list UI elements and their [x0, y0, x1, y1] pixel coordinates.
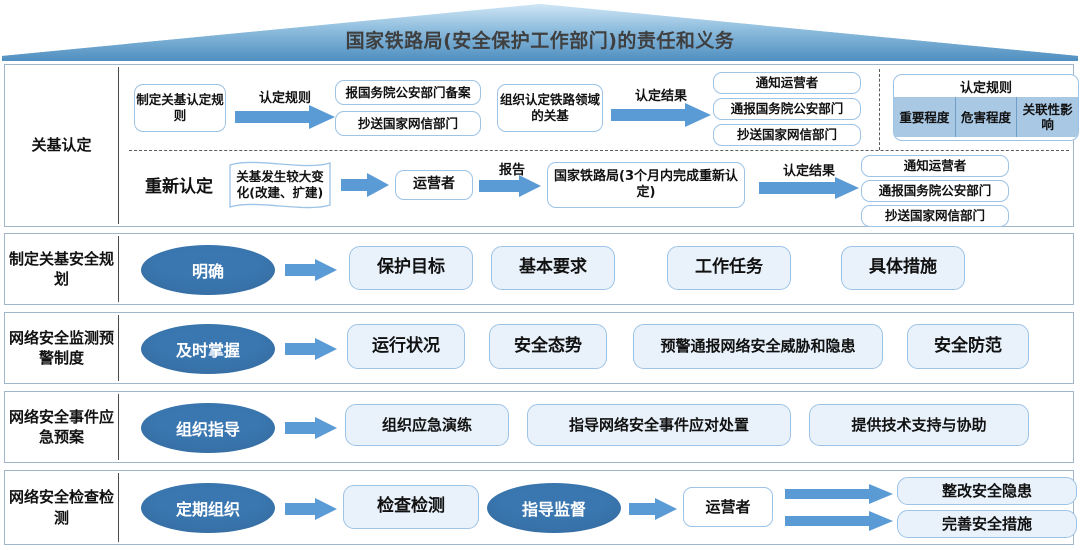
caption-identification-rules: 认定规则 — [237, 87, 333, 106]
rule-cell-harm[interactable]: 危害程度 — [955, 97, 1017, 137]
box-report-mps-2[interactable]: 通报国务院公安部门 — [861, 180, 1009, 202]
section-monitoring-warning: 网络安全监测预警制度 及时掌握 运行状况 安全态势 预警通报网络安全威胁和隐患 … — [4, 312, 1074, 384]
ellipse-clarify[interactable]: 明确 — [141, 245, 275, 295]
arrow-row5c-top — [785, 484, 893, 504]
ellipse-organize-guide[interactable]: 组织指导 — [141, 403, 275, 453]
arrow-row5a — [285, 498, 337, 520]
wave-text: 关基发生较大变化(改建、扩建) — [227, 159, 333, 211]
ellipse-guide-supervise[interactable]: 指导监督 — [487, 483, 621, 533]
box-inspection-detection[interactable]: 检查检测 — [343, 485, 479, 529]
section-body-1: 制定关基认定规则 认定规则 报国务院公安部门备案 抄送国家网信部门 组织认定铁路… — [119, 65, 1073, 226]
arrow-row3 — [285, 338, 337, 360]
box-security-prevention[interactable]: 安全防范 — [907, 324, 1029, 369]
arrow-row2 — [285, 259, 337, 281]
section-guanji-identification: 关基认定 制定关基认定规则 认定规则 报国务院公安部门备案 抄送国家网信部门 组… — [4, 64, 1074, 227]
section-body-2: 明确 保护目标 基本要求 工作任务 具体措施 — [119, 234, 1073, 304]
subrow-separator — [129, 150, 1069, 151]
box-specific-measures[interactable]: 具体措施 — [841, 246, 965, 290]
section-security-plan: 制定关基安全规划 明确 保护目标 基本要求 工作任务 具体措施 — [4, 233, 1074, 305]
arrow-1b — [611, 103, 711, 127]
box-technical-support[interactable]: 提供技术支持与协助 — [809, 404, 1029, 446]
ellipse-timely-grasp[interactable]: 及时掌握 — [141, 324, 275, 374]
box-cc-cac-2[interactable]: 抄送国家网信部门 — [713, 124, 861, 146]
ellipse-regularly-organize[interactable]: 定期组织 — [141, 483, 275, 533]
section-label-4: 网络安全事件应急预案 — [5, 392, 118, 462]
arrow-row4 — [285, 417, 337, 439]
box-rectify-hazards[interactable]: 整改安全隐患 — [897, 477, 1077, 505]
box-cc-cac-3[interactable]: 抄送国家网信部门 — [861, 205, 1009, 227]
rule-table-separator — [879, 69, 880, 150]
section-label-3: 网络安全监测预警制度 — [5, 313, 118, 383]
page-title: 国家铁路局(安全保护工作部门)的责任和义务 — [0, 26, 1080, 53]
banner: 国家铁路局(安全保护工作部门)的责任和义务 — [0, 0, 1080, 62]
rule-table-cells: 重要程度 危害程度 关联性影响 — [894, 97, 1078, 137]
box-warning-notification-threats[interactable]: 预警通报网络安全威胁和隐患 — [633, 324, 883, 369]
label-re-identification: 重新认定 — [145, 172, 213, 197]
box-report-mps[interactable]: 通报国务院公安部门 — [713, 98, 861, 120]
box-national-railway-administration[interactable]: 国家铁路局(3个月内完成重新认定) — [547, 162, 745, 208]
section-label-5: 网络安全检查检测 — [5, 471, 118, 544]
rule-table-title: 认定规则 — [894, 75, 1078, 97]
section-body-3: 及时掌握 运行状况 安全态势 预警通报网络安全威胁和隐患 安全防范 — [119, 313, 1073, 383]
box-file-with-mps[interactable]: 报国务院公安部门备案 — [335, 80, 481, 105]
box-operating-status[interactable]: 运行状况 — [347, 324, 465, 369]
section-label-2: 制定关基安全规划 — [5, 234, 118, 304]
box-improve-measures[interactable]: 完善安全措施 — [897, 510, 1077, 538]
box-organize-identify-railway-guanji[interactable]: 组织认定铁路领域的关基 — [497, 84, 603, 132]
box-security-situation[interactable]: 安全态势 — [489, 324, 607, 369]
box-notify-operator[interactable]: 通知运营者 — [713, 72, 861, 94]
box-major-change-trigger[interactable]: 关基发生较大变化(改建、扩建) — [227, 159, 333, 211]
box-organize-drills[interactable]: 组织应急演练 — [345, 404, 509, 446]
box-protection-goal[interactable]: 保护目标 — [349, 246, 473, 290]
box-notify-operator-2[interactable]: 通知运营者 — [861, 155, 1009, 177]
box-work-tasks[interactable]: 工作任务 — [667, 246, 791, 290]
caption-identification-result: 认定结果 — [613, 85, 709, 104]
section-body-4: 组织指导 组织应急演练 指导网络安全事件应对处置 提供技术支持与协助 — [119, 392, 1073, 462]
arrow-row5b — [629, 498, 677, 520]
rule-cell-relevance[interactable]: 关联性影响 — [1016, 97, 1078, 137]
box-make-identification-rules[interactable]: 制定关基认定规则 — [134, 84, 226, 132]
box-operator-reidentify[interactable]: 运营者 — [395, 170, 473, 200]
section-label-1: 关基认定 — [5, 65, 118, 226]
arrow-2a — [341, 173, 389, 197]
arrow-2b — [479, 175, 541, 197]
box-cc-cac[interactable]: 抄送国家网信部门 — [335, 111, 481, 136]
rule-table: 认定规则 重要程度 危害程度 关联性影响 — [893, 74, 1079, 141]
section-body-5: 定期组织 检查检测 指导监督 运营者 — [119, 471, 1073, 544]
box-operator-inspection[interactable]: 运营者 — [683, 487, 773, 527]
box-basic-requirements[interactable]: 基本要求 — [491, 246, 615, 290]
arrow-2c — [759, 177, 859, 199]
box-guide-incident-response[interactable]: 指导网络安全事件应对处置 — [527, 404, 791, 446]
arrow-row5c-bottom — [785, 511, 893, 531]
arrow-1a — [235, 105, 335, 129]
rule-cell-importance[interactable]: 重要程度 — [894, 97, 955, 137]
section-inspection: 网络安全检查检测 定期组织 检查检测 指导监督 运营者 — [4, 470, 1074, 545]
section-emergency-plan: 网络安全事件应急预案 组织指导 组织应急演练 指导网络安全事件应对处置 提供技术… — [4, 391, 1074, 463]
